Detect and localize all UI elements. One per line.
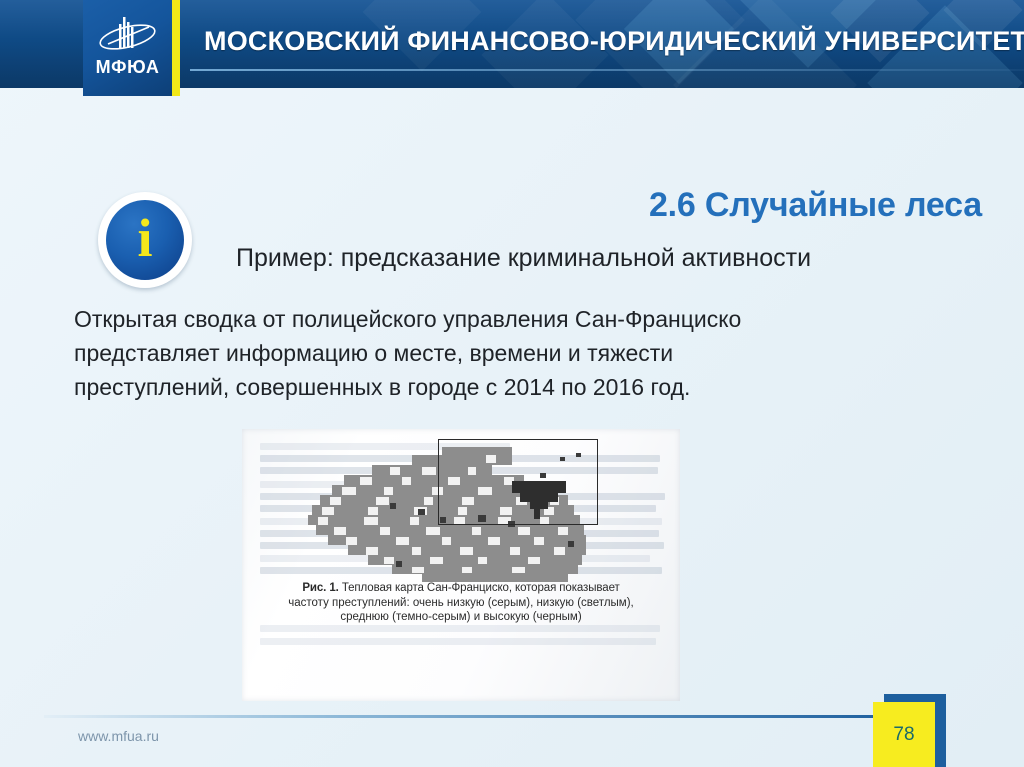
figure-caption-line: Тепловая карта Сан-Франциско, которая по… bbox=[339, 582, 620, 594]
university-name: МОСКОВСКИЙ ФИНАНСОВО-ЮРИДИЧЕСКИЙ УНИВЕРС… bbox=[204, 26, 1024, 57]
page-number-badge: 78 bbox=[873, 702, 935, 767]
scanned-figure-image: Рис. 1. Тепловая карта Сан-Франциско, ко… bbox=[242, 429, 680, 701]
page-subtitle: Пример: предсказание криминальной активн… bbox=[236, 244, 811, 273]
body-paragraph: Открытая сводка от полицейского управлен… bbox=[74, 302, 904, 404]
info-icon-disc: i bbox=[106, 200, 184, 280]
figure-caption-line: частоту преступлений: очень низкую (серы… bbox=[288, 597, 633, 609]
header-divider-rule bbox=[190, 69, 1024, 71]
mfua-logo: МФЮА bbox=[83, 0, 172, 96]
ghost-text-line bbox=[260, 638, 656, 645]
info-circle-icon: i bbox=[98, 192, 192, 288]
body-line: преступлений, совершенных в городе с 201… bbox=[74, 370, 904, 404]
figure-caption-label: Рис. 1. bbox=[302, 582, 338, 594]
page-title: 2.6 Случайные леса bbox=[649, 186, 982, 225]
mfua-logo-text: МФЮА bbox=[83, 57, 172, 78]
figure-caption: Рис. 1. Тепловая карта Сан-Франциско, ко… bbox=[258, 581, 664, 625]
presentation-slide: МОСКОВСКИЙ ФИНАНСОВО-ЮРИДИЧЕСКИЙ УНИВЕРС… bbox=[0, 0, 1024, 767]
body-line: представляет информацию о месте, времени… bbox=[74, 336, 904, 370]
logo-accent-stripe bbox=[172, 0, 180, 96]
figure-caption-line: среднюю (темно-серым) и высокую (черным) bbox=[340, 611, 581, 623]
mfua-tower-swoosh-icon bbox=[93, 14, 162, 58]
ghost-text-line bbox=[260, 625, 660, 632]
footer-divider bbox=[44, 715, 894, 718]
heatmap-focus-rectangle bbox=[438, 439, 598, 525]
footer-url[interactable]: www.mfua.ru bbox=[78, 728, 159, 744]
info-icon-glyph: i bbox=[137, 211, 152, 265]
body-line: Открытая сводка от полицейского управлен… bbox=[74, 302, 904, 336]
